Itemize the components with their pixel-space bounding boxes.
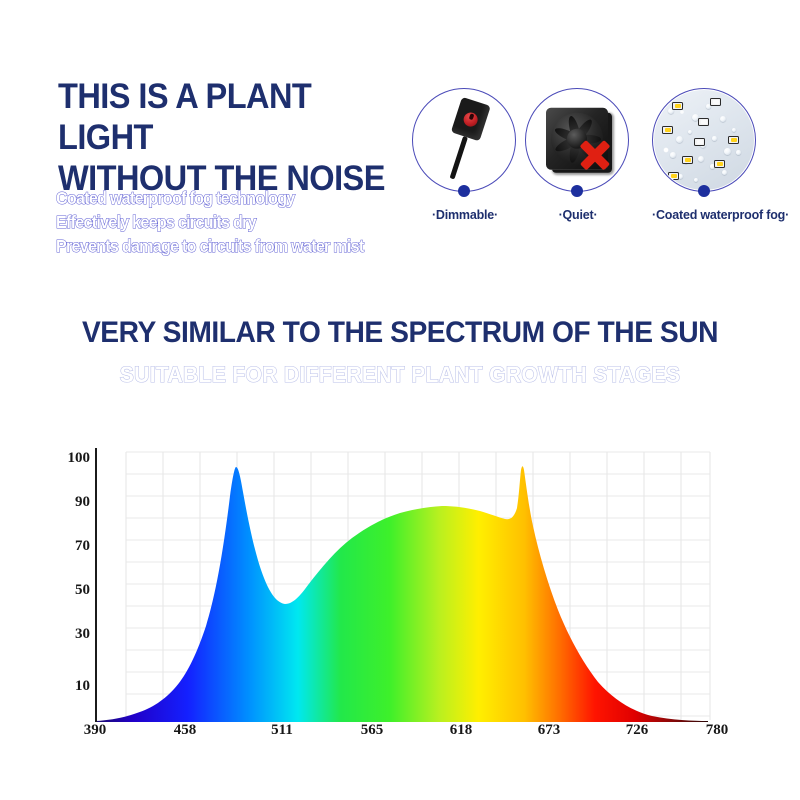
feature-label-quiet: ·Quiet·: [525, 208, 631, 222]
led-chip: [662, 126, 673, 134]
x-tick-673: 673: [519, 722, 579, 739]
y-tick-50: 50: [46, 582, 90, 599]
led-chip: [710, 98, 721, 106]
page-title: THIS IS A PLANT LIGHT WITHOUT THE NOISE: [58, 76, 411, 199]
circle-anchor-dot: [571, 185, 583, 197]
feature-waterproof: ·Coated waterproof fog·: [652, 88, 758, 222]
x-tick-565: 565: [342, 722, 402, 739]
feature-bullet-list: Coated waterproof fog technology Effecti…: [56, 186, 424, 258]
x-tick-726: 726: [607, 722, 667, 739]
spectrum-chart-svg: [0, 430, 800, 760]
fan-crossed-out-icon: [546, 108, 608, 170]
y-axis-ticks: 100 90 70 50 30 10: [42, 430, 90, 730]
feature-circle: [412, 88, 516, 192]
x-tick-618: 618: [431, 722, 491, 739]
circle-anchor-dot: [698, 185, 710, 197]
x-tick-390: 390: [65, 722, 125, 739]
y-tick-100: 100: [46, 450, 90, 467]
led-chip: [672, 102, 683, 110]
led-chip: [694, 138, 705, 146]
feature-quiet: ·Quiet·: [525, 88, 631, 222]
y-tick-70: 70: [46, 538, 90, 555]
circle-anchor-dot: [458, 185, 470, 197]
feature-circle: [652, 88, 756, 192]
led-chip: [728, 136, 739, 144]
promo-page: THIS IS A PLANT LIGHT WITHOUT THE NOISE …: [0, 0, 800, 800]
x-axis-ticks: 390 458 511 565 618 673 726 780: [0, 722, 800, 752]
y-tick-90: 90: [46, 494, 90, 511]
bullet-item-1: Coated waterproof fog technology: [56, 186, 424, 210]
feature-label-dimmable: ·Dimmable·: [412, 208, 518, 222]
bullet-item-3: Prevents damage to circuits from water m…: [56, 234, 424, 258]
feature-label-waterproof: ·Coated waterproof fog·: [652, 208, 758, 222]
led-chip: [682, 156, 693, 164]
led-chip: [668, 172, 679, 180]
dimmer-switch-icon: [437, 97, 491, 183]
feature-circle: [525, 88, 629, 192]
spectrum-section-title: VERY SIMILAR TO THE SPECTRUM OF THE SUN: [24, 316, 776, 350]
spectrum-curve-area: [96, 466, 708, 722]
spectrum-fill: [96, 466, 708, 722]
spectrum-section-subtitle: SUITABLE FOR DIFFERENT PLANT GROWTH STAG…: [16, 362, 784, 388]
feature-dimmable: ·Dimmable·: [412, 88, 518, 222]
red-x-icon: [578, 138, 612, 172]
x-tick-511: 511: [252, 722, 312, 739]
y-tick-30: 30: [46, 626, 90, 643]
led-chip: [698, 118, 709, 126]
spectrum-chart: 100 90 70 50 30 10 390 458 511 565 618 6…: [0, 430, 800, 760]
x-tick-458: 458: [155, 722, 215, 739]
bullet-item-2: Effectively keeps circuits dry: [56, 210, 424, 234]
led-board-waterproof-icon: [654, 90, 754, 190]
led-chip: [714, 160, 725, 168]
y-tick-10: 10: [46, 678, 90, 695]
x-tick-780: 780: [687, 722, 747, 739]
